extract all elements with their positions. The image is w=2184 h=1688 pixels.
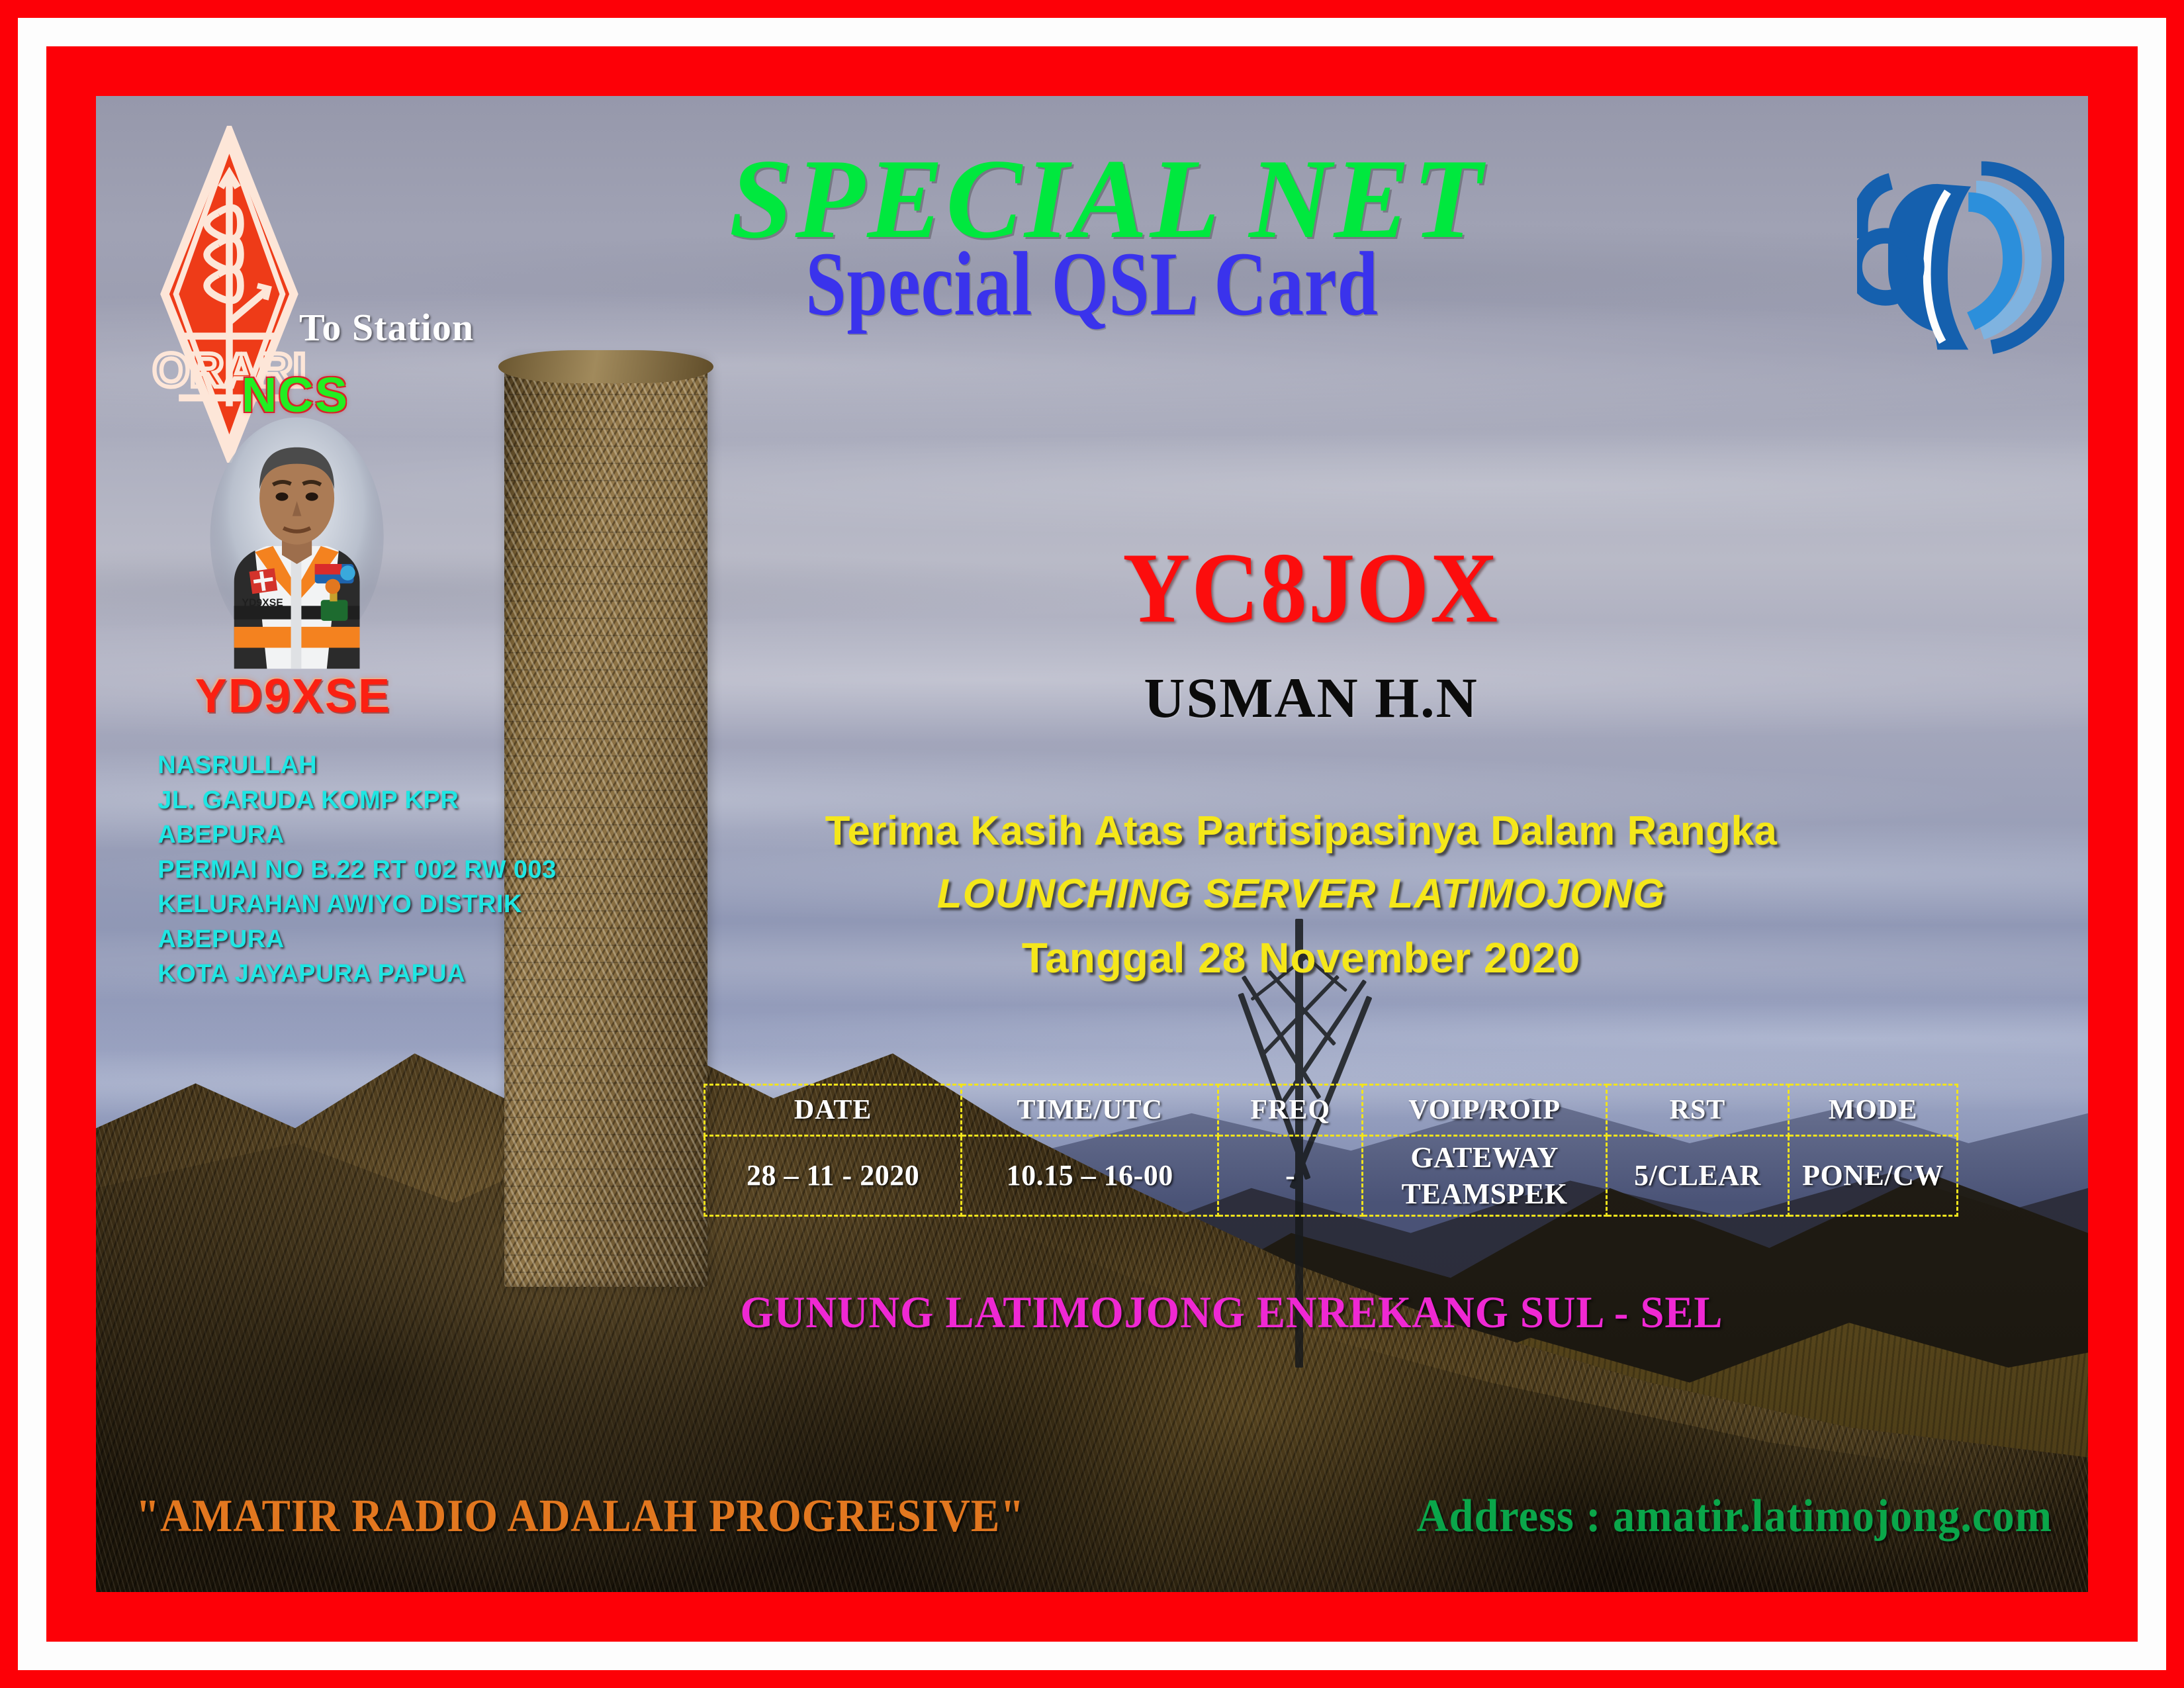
column-header-rst: RST (1607, 1084, 1789, 1135)
address-line: NASRULLAH (158, 748, 676, 782)
card-background-photo: ORARI (96, 96, 2088, 1592)
address-line: JL. GARUDA KOMP KPR (158, 783, 676, 818)
to-station-label: To Station (299, 305, 474, 350)
cell-time: 10.15 – 16-00 (962, 1135, 1218, 1215)
thanks-line: Terima Kasih Atas Partisipasinya Dalam R… (753, 811, 1849, 852)
table-row: 28 – 11 - 2020 10.15 – 16-00 - GATEWAY T… (705, 1135, 1958, 1215)
qsl-card: ORARI (0, 0, 2184, 1688)
footer-motto: "AMATIR RADIO ADALAH PROGRESIVE" (136, 1493, 1024, 1540)
qso-data-table: DATE TIME/UTC FREQ VOIP/ROIP RST MODE 28… (704, 1084, 1958, 1217)
station-callsign: YC8JOX (996, 538, 1626, 638)
address-block: NASRULLAH JL. GARUDA KOMP KPR ABEPURA PE… (158, 748, 676, 991)
address-line: KELURAHAN AWIYO DISTRIK (158, 887, 676, 921)
address-line: ABEPURA (158, 818, 676, 852)
avatar: YD9XSE (177, 414, 416, 669)
table-header-row: DATE TIME/UTC FREQ VOIP/ROIP RST MODE (705, 1084, 1958, 1135)
cell-voip-roip: GATEWAY TEAMSPEK (1363, 1135, 1607, 1215)
column-header-date: DATE (705, 1084, 962, 1135)
operator-name: USMAN H.N (972, 669, 1649, 726)
column-header-freq: FREQ (1218, 1084, 1363, 1135)
cell-mode: PONE/CW (1788, 1135, 1958, 1215)
location-label: GUNUNG LATIMOJONG ENREKANG SUL - SEL (664, 1289, 1799, 1335)
column-header-voip-roip: VOIP/ROIP (1363, 1084, 1607, 1135)
ncs-callsign: YD9XSE (144, 669, 443, 724)
address-line: ABEPURA (158, 922, 676, 957)
card-white-border: ORARI (18, 18, 2166, 1670)
column-header-time: TIME/UTC (962, 1084, 1218, 1135)
event-name: LOUNCHING SERVER LATIMOJONG (753, 874, 1849, 915)
cell-rst: 5/CLEAR (1607, 1135, 1789, 1215)
card-inner-red-border: ORARI (46, 46, 2138, 1642)
footer-website: Address : amatir.latimojong.com (1416, 1493, 2052, 1540)
cell-date: 28 – 11 - 2020 (705, 1135, 962, 1215)
cell-freq: - (1218, 1135, 1363, 1215)
address-line: PERMAI NO B.22 RT 002 RW 003 (158, 853, 676, 887)
event-date: Tanggal 28 November 2020 (753, 937, 1849, 979)
svg-text:YD9XSE: YD9XSE (242, 598, 283, 609)
address-line: KOTA JAYAPURA PAPUA (158, 957, 676, 991)
page-subtitle: Special QSL Card (295, 238, 1889, 330)
column-header-mode: MODE (1788, 1084, 1958, 1135)
